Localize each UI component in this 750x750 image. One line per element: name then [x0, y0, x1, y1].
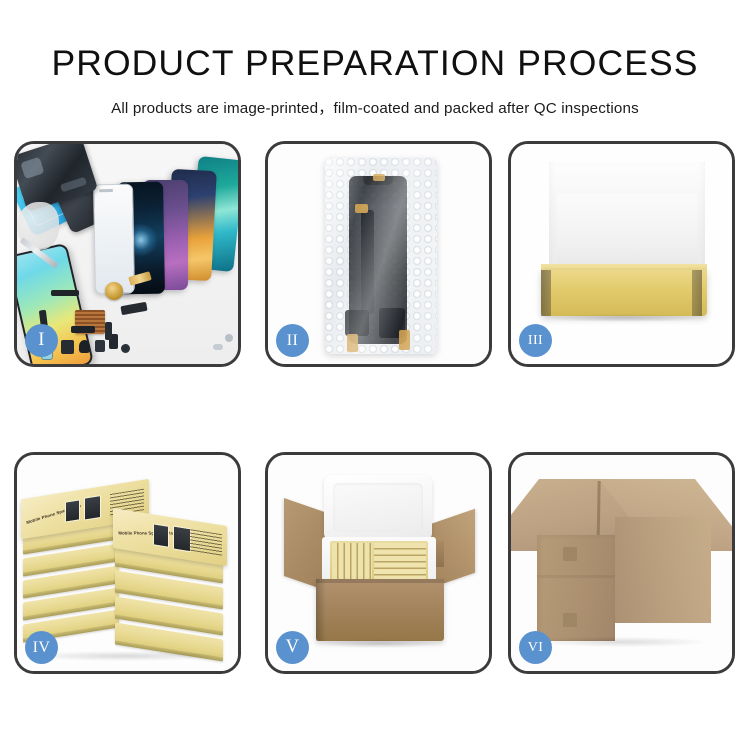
carton-front-wall [316, 579, 444, 641]
part-small-c [95, 340, 105, 352]
plastic-sheen [325, 158, 437, 354]
drop-shadow [541, 637, 705, 647]
part-screw-driver-bit [213, 344, 223, 350]
foam-insert-sheet [557, 194, 697, 270]
part-antenna-strip [105, 322, 112, 340]
product-preparation-process-graphic: PRODUCT PREPARATION PROCESS All products… [0, 0, 750, 750]
carton-inner-shadow [316, 579, 326, 641]
carton-crease-line [537, 575, 615, 578]
yellow-boxes-inside [330, 541, 428, 583]
process-step-panel-4: Mobile Phone Spare Parts Mobile Phone Sp… [14, 452, 241, 674]
carton-tape-patch-top [563, 547, 577, 561]
step-badge-4: IV [25, 631, 58, 664]
step-badge-1: I [25, 324, 58, 357]
step-badge-2: II [276, 324, 309, 357]
box-window-1 [65, 499, 80, 522]
process-step-panel-6: VI [508, 452, 735, 674]
step-badge-6: VI [519, 631, 552, 664]
part-bracket [71, 326, 95, 333]
box-window-1 [153, 523, 169, 548]
bubble-wrap-bag [325, 158, 437, 354]
box-window-2 [84, 495, 101, 521]
part-gold-coil [105, 282, 123, 300]
part-camera-ring [121, 344, 130, 353]
part-small-a [61, 340, 74, 354]
boxes-horizontal-group [374, 543, 426, 581]
process-step-panel-3: III [508, 141, 735, 367]
carton-tape-patch-bottom [563, 613, 577, 627]
yellow-box-body [541, 270, 707, 316]
drop-shadow [545, 314, 703, 322]
carton-side-right [615, 517, 711, 623]
part-screw [225, 334, 233, 342]
process-step-grid: I II [0, 0, 750, 750]
boxes-vertical-group [332, 543, 372, 581]
drop-shadow [320, 639, 440, 648]
process-step-panel-2: II [265, 141, 492, 367]
box-spec-text-block [188, 529, 222, 556]
step-badge-3: III [519, 324, 552, 357]
process-step-panel-5: V [265, 452, 492, 674]
process-step-panel-1: I [14, 141, 241, 367]
box-inner-wall-right [692, 270, 702, 316]
part-small-b [79, 340, 90, 353]
box-inner-wall-left [541, 270, 551, 316]
step-badge-5: V [276, 631, 309, 664]
foam-box-lid [324, 475, 432, 541]
part-speaker-bar [51, 290, 79, 296]
